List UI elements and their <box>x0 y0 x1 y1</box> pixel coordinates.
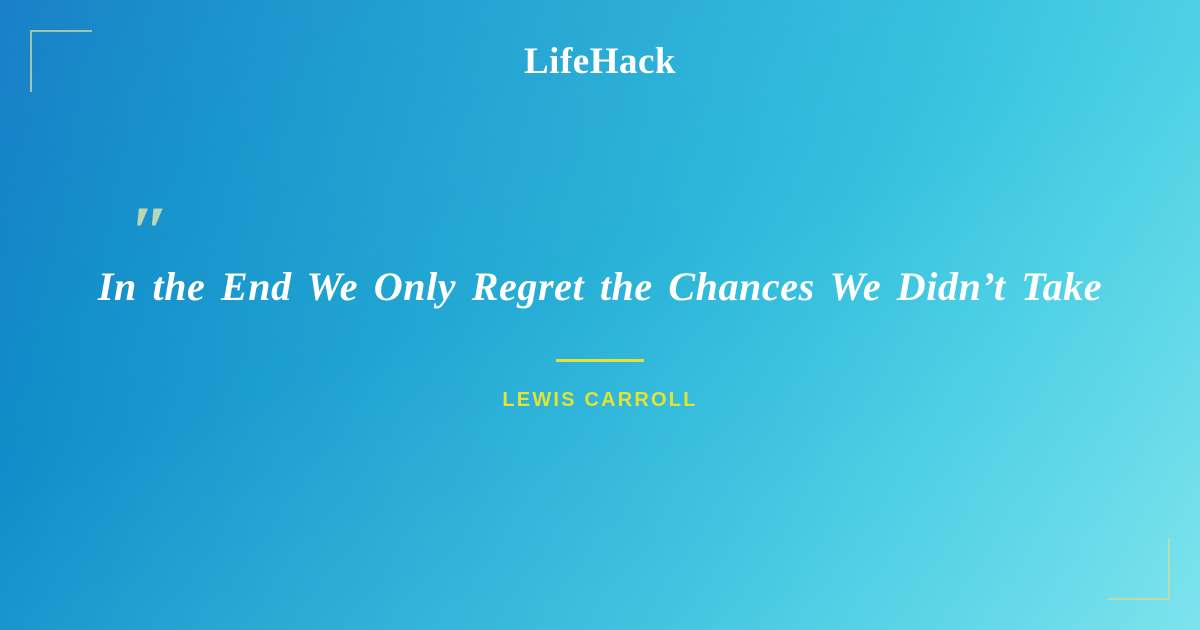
quote-card-content: LifeHack ″ In the End We Only Regret the… <box>0 0 1200 630</box>
quotation-mark-icon: ″ <box>130 196 166 268</box>
brand-logo: LifeHack <box>0 40 1200 83</box>
divider <box>556 359 644 362</box>
quote-text: In the End We Only Regret the Chances We… <box>0 262 1200 312</box>
quote-card: LifeHack ″ In the End We Only Regret the… <box>0 0 1200 630</box>
corner-bracket-bottom-right-icon <box>1108 538 1170 600</box>
quote-author: LEWIS CARROLL <box>0 389 1200 412</box>
